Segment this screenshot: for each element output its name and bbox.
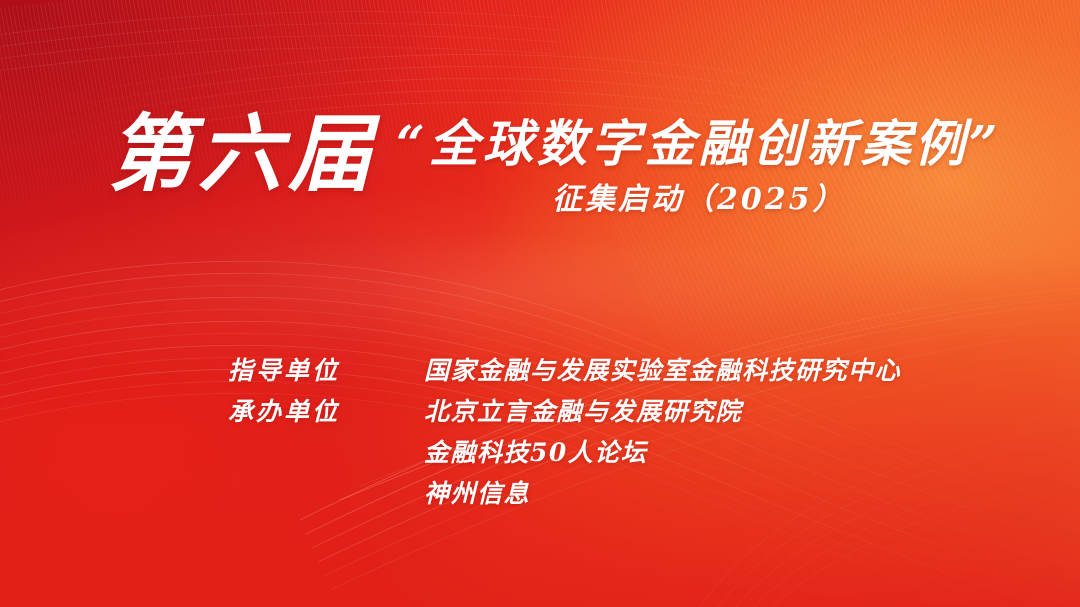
credit-value: 国家金融与发展实验室金融科技研究中心 [424,358,901,383]
subtitle: 征集启动（2025） [552,183,846,216]
credit-row: 金融科技50人论坛 [228,440,901,481]
title-side-block: “全球数字金融创新案例” 征集启动（2025） [396,118,1002,216]
credit-row: 承办单位 北京立言金融与发展研究院 [228,399,901,440]
credit-label: 指导单位 [228,358,424,383]
event-poster: 第六届 “全球数字金融创新案例” 征集启动（2025） 指导单位 国家金融与发展… [0,0,1080,607]
credit-row: 指导单位 国家金融与发展实验室金融科技研究中心 [228,358,901,399]
quoted-title: “全球数字金融创新案例” [396,118,1002,171]
credit-value: 北京立言金融与发展研究院 [424,399,742,424]
credit-value: 神州信息 [424,481,530,506]
credit-value: 金融科技50人论坛 [424,440,647,465]
credit-row: 神州信息 [228,481,901,522]
credit-label: 承办单位 [228,399,424,424]
poster-title-block: 第六届 “全球数字金融创新案例” 征集启动（2025） [108,112,1002,216]
edition-title: 第六届 [108,112,378,196]
poster-content: 第六届 “全球数字金融创新案例” 征集启动（2025） 指导单位 国家金融与发展… [0,0,1080,607]
credits-block: 指导单位 国家金融与发展实验室金融科技研究中心 承办单位 北京立言金融与发展研究… [228,358,901,522]
